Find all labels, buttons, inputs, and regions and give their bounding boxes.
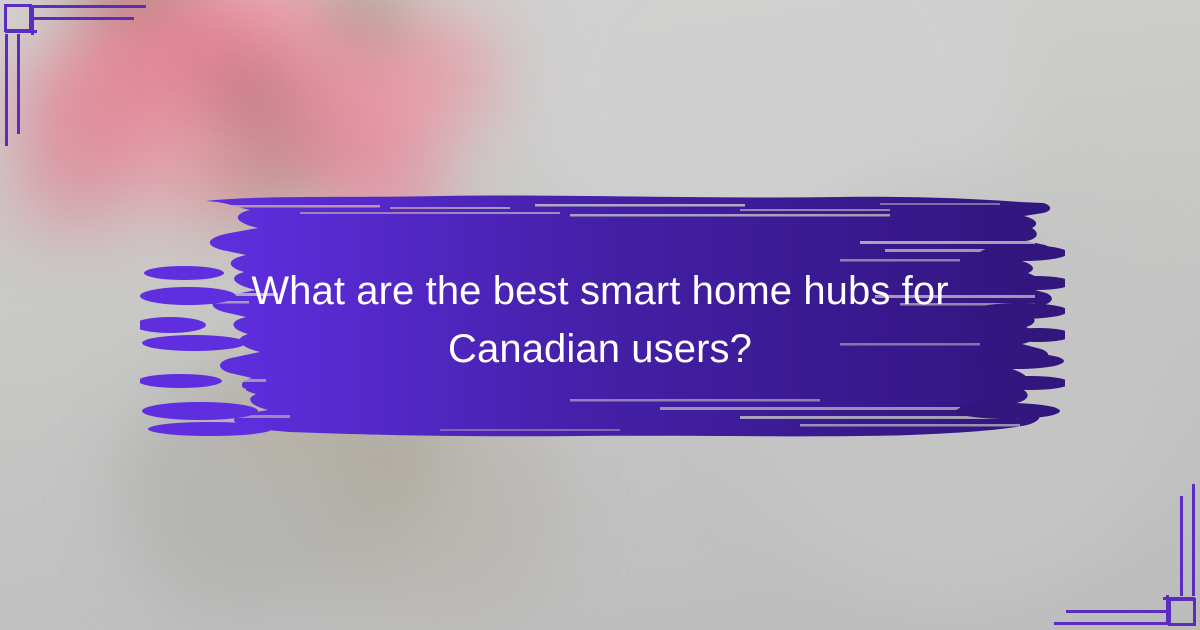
corner-square-icon — [4, 4, 32, 32]
corner-frame-line — [1192, 484, 1195, 596]
corner-frame-line — [1163, 597, 1195, 600]
corner-frame-line — [5, 34, 8, 146]
corner-frame-line — [1180, 496, 1183, 596]
top-left-corner-frame — [0, 0, 160, 175]
bottom-right-corner-frame — [1040, 455, 1200, 630]
corner-frame-line — [5, 30, 37, 33]
corner-frame-line — [1066, 610, 1166, 613]
corner-frame-line — [34, 17, 134, 20]
corner-square-icon — [1168, 598, 1196, 626]
corner-frame-line — [34, 5, 146, 8]
corner-frame-line — [1054, 622, 1166, 625]
question-headline: What are the best smart home hubs for Ca… — [190, 262, 1010, 378]
banner-canvas: What are the best smart home hubs for Ca… — [0, 0, 1200, 630]
corner-frame-line — [17, 34, 20, 134]
